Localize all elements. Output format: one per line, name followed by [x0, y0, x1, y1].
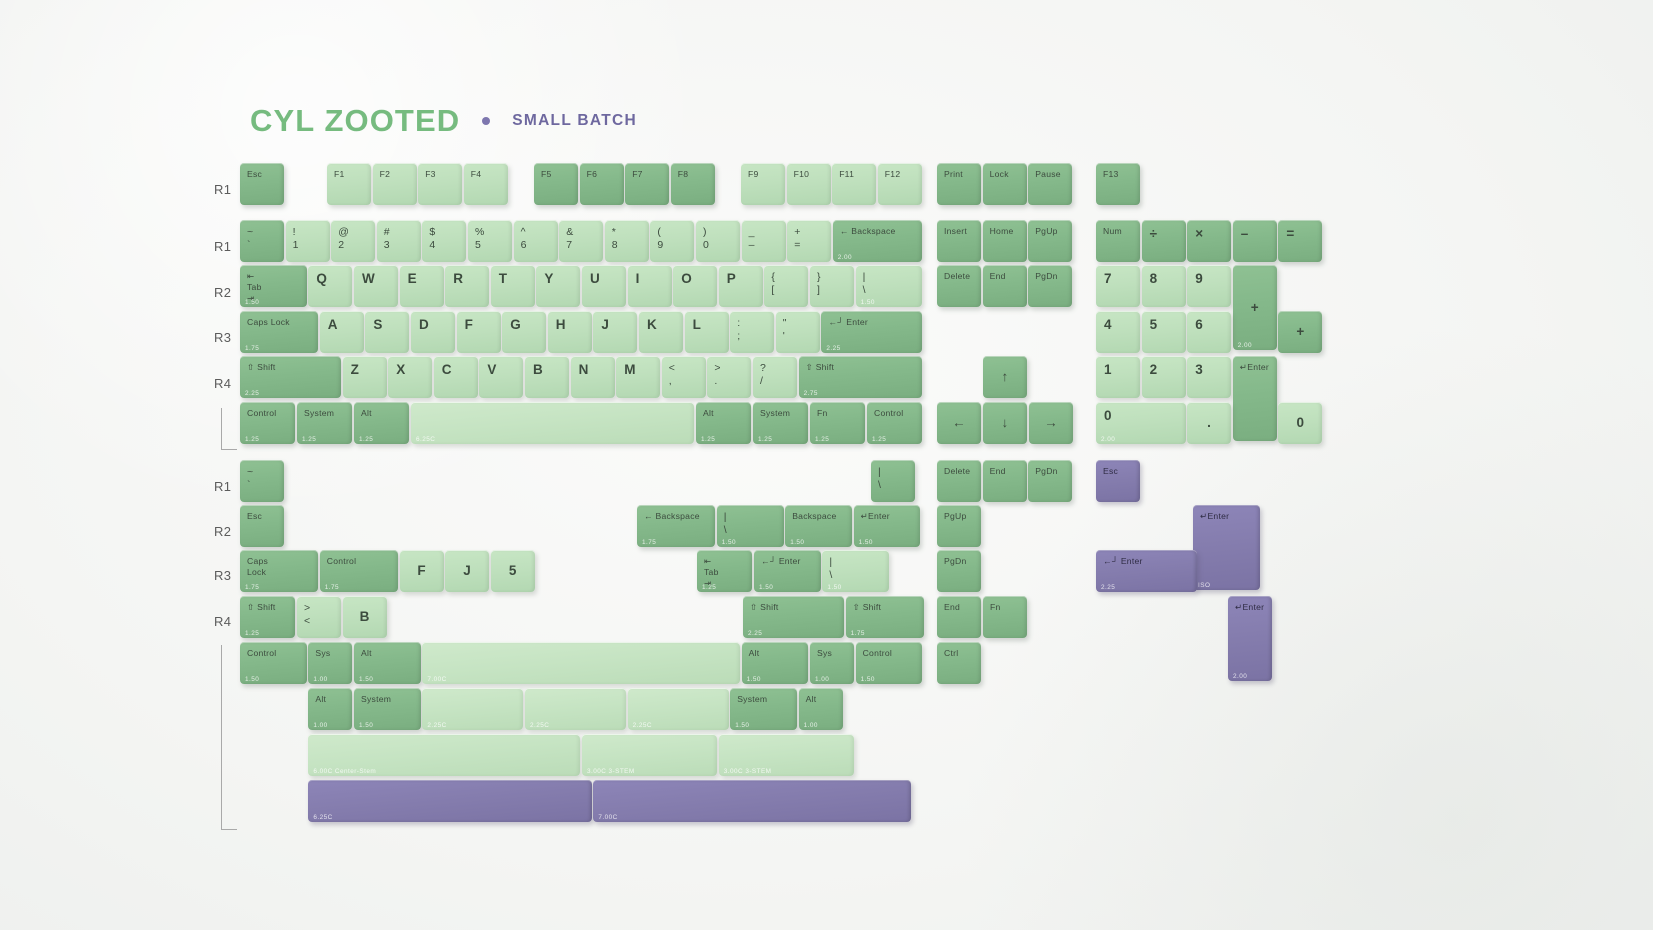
keycap-surface — [707, 356, 751, 398]
keycap-system: System1.25 — [753, 402, 808, 444]
keycap-3: 3 — [1187, 356, 1231, 398]
keycap-blank: . — [1187, 402, 1231, 444]
keycap-blank: – — [1233, 220, 1277, 262]
keycap-f8: F8 — [671, 163, 715, 205]
keycap-surface — [1228, 596, 1272, 681]
keycap-blank: 2.25C — [525, 688, 626, 730]
keycap-q: Q — [308, 265, 352, 307]
keycap-surface — [1278, 311, 1322, 353]
keycap-caps-lock: Caps Lock1.75 — [240, 311, 318, 353]
keycap-esc: Esc — [1096, 460, 1140, 502]
keycap-alt: Alt1.00 — [799, 688, 843, 730]
keycap-esc: Esc — [240, 163, 284, 205]
keycap-u: U — [582, 265, 626, 307]
keycap-surface — [240, 642, 307, 684]
keycap-8: 8 — [1142, 265, 1186, 307]
keycap-blank: ~ ` — [240, 460, 284, 502]
keycap-surface — [308, 265, 352, 307]
keycap-surface — [400, 550, 444, 592]
keycap-surface — [856, 642, 923, 684]
row-label-b-r2: R2 — [214, 524, 231, 539]
keycap-surface — [983, 220, 1027, 262]
keycap-blank: > . — [707, 356, 751, 398]
keycap-surface — [491, 550, 535, 592]
keycap-surface — [1187, 402, 1231, 444]
keycap-blank: ← — [937, 402, 981, 444]
keycap-surface — [717, 505, 784, 547]
keycap-enter: ←┘ Enter2.25 — [1096, 550, 1197, 592]
keycap-surface — [810, 642, 854, 684]
keycap-surface — [1028, 265, 1072, 307]
keycap-backspace: Backspace1.50 — [785, 505, 852, 547]
keycap-surface — [297, 596, 341, 638]
keycap-caps-lock: CapsLock1.75 — [240, 550, 318, 592]
keycap-surface — [240, 505, 284, 547]
keycap-surface — [1278, 402, 1322, 444]
keycap-surface — [422, 688, 523, 730]
keycap-surface — [240, 402, 295, 444]
keycap-alt: Alt1.00 — [308, 688, 352, 730]
keycap-surface — [297, 402, 352, 444]
keycap-blank: } ] — [810, 265, 854, 307]
keycap-blank: _ – — [742, 220, 786, 262]
keycap-control: Control1.25 — [240, 402, 295, 444]
keycap-surface — [582, 265, 626, 307]
keycap-blank: " ' — [776, 311, 820, 353]
keycap-pgdn: PgDn — [937, 550, 981, 592]
keycap-s: S — [365, 311, 409, 353]
keycap-surface — [730, 688, 797, 730]
keycap-surface — [867, 402, 922, 444]
keycap-surface — [354, 402, 409, 444]
keycap-surface — [548, 311, 592, 353]
keycap-f2: F2 — [373, 163, 417, 205]
keycap-r: R — [445, 265, 489, 307]
keycap-surface — [754, 550, 821, 592]
keycap-surface — [743, 596, 844, 638]
keycap-enter: ←┘ Enter1.50 — [754, 550, 821, 592]
keycap-surface — [343, 596, 387, 638]
keycap-surface — [696, 402, 751, 444]
keycap-surface — [810, 402, 865, 444]
keycap-e: E — [400, 265, 444, 307]
keycap-surface — [937, 550, 981, 592]
keycap-surface — [468, 220, 512, 262]
keycap-surface — [1096, 402, 1186, 444]
keycap-surface — [1028, 460, 1072, 502]
keycap-surface — [753, 356, 797, 398]
keycap-surface — [388, 356, 432, 398]
keycap-pgdn: PgDn — [1028, 460, 1072, 502]
keycap-alt: Alt1.50 — [742, 642, 809, 684]
keycap-t: T — [491, 265, 535, 307]
keycap-2: 2 — [1142, 356, 1186, 398]
keycap-surface — [787, 163, 831, 205]
keycap-0: 02.00 — [1096, 402, 1186, 444]
keycap-fn: Fn — [983, 596, 1027, 638]
keycap-surface — [445, 550, 489, 592]
keycap-surface — [593, 780, 911, 822]
keycap-surface — [411, 311, 455, 353]
keycap-blank: 6.00C Center-Stem — [308, 734, 580, 776]
keycap-blank: = — [1278, 220, 1322, 262]
keycap-surface — [308, 780, 591, 822]
keycap-b: B — [525, 356, 569, 398]
keycap-esc: Esc — [240, 505, 284, 547]
keycap-surface — [343, 356, 387, 398]
keycap-surface — [937, 505, 981, 547]
keycap-surface — [937, 460, 981, 502]
keycap-surface — [240, 460, 284, 502]
keycap-delete: Delete — [937, 460, 981, 502]
keycap-fn: Fn1.25 — [810, 402, 865, 444]
keycap-blank: { [ — [764, 265, 808, 307]
keycap-surface — [580, 163, 624, 205]
keycap-surface — [240, 220, 284, 262]
keycap-shift: ⇧ Shift2.25 — [240, 356, 341, 398]
keycap-end: End — [937, 596, 981, 638]
keycap-surface — [637, 505, 715, 547]
bullet-dot-icon — [482, 117, 490, 125]
keycap-surface — [785, 505, 852, 547]
keycap-surface — [937, 642, 981, 684]
keycap-surface — [240, 550, 318, 592]
keycap-surface — [799, 356, 923, 398]
keycap-surface — [1278, 220, 1322, 262]
keycap-f: F — [400, 550, 444, 592]
keycap-system: System1.25 — [297, 402, 352, 444]
keycap-backspace: ← Backspace2.00 — [833, 220, 923, 262]
keycap-j: J — [593, 311, 637, 353]
keycap-surface — [983, 460, 1027, 502]
keycap-surface — [445, 265, 489, 307]
keycap-surface — [422, 220, 466, 262]
keycap-blank: ~ ` — [240, 220, 284, 262]
keycap-surface — [240, 311, 318, 353]
keycap-surface — [365, 311, 409, 353]
keycap-g: G — [502, 311, 546, 353]
keycap-4: 4 — [1096, 311, 1140, 353]
keycap-d: D — [411, 311, 455, 353]
keycap-k: K — [639, 311, 683, 353]
keycap-j: J — [445, 550, 489, 592]
keycap-surface — [479, 356, 523, 398]
keycap-f4: F4 — [464, 163, 508, 205]
keycap-tab: ⇤Tab⇥1.50 — [240, 265, 307, 307]
keycap-surface — [776, 311, 820, 353]
keycap-surface — [1142, 265, 1186, 307]
keycap-surface — [730, 311, 774, 353]
keycap-surface — [937, 163, 981, 205]
keycap-f7: F7 — [625, 163, 669, 205]
keycap-surface — [1142, 220, 1186, 262]
keycap-blank: × — [1187, 220, 1231, 262]
keycap-surface — [514, 220, 558, 262]
keycap-blank: 3.00C 3-STEM — [582, 734, 717, 776]
keycap-f5: F5 — [534, 163, 578, 205]
keycap-surface — [320, 550, 398, 592]
keycap-surface — [628, 688, 729, 730]
keycap-f13: F13 — [1096, 163, 1140, 205]
keycap-surface — [571, 356, 615, 398]
keycap-surface — [1187, 356, 1231, 398]
keycap-h: H — [548, 311, 592, 353]
keycap-surface — [605, 220, 649, 262]
keycap-i: I — [628, 265, 672, 307]
keycap-surface — [434, 356, 478, 398]
keycap-surface — [308, 642, 352, 684]
keycap-surface — [983, 356, 1027, 398]
keycap-a: A — [320, 311, 364, 353]
row-label-r1-num: R1 — [214, 239, 231, 254]
keycap-surface — [418, 163, 462, 205]
keycap-blank: | \1.50 — [717, 505, 784, 547]
keycap-f1: F1 — [327, 163, 371, 205]
keycap-home: Home — [983, 220, 1027, 262]
keycap-o: O — [673, 265, 717, 307]
keycap-surface — [878, 163, 922, 205]
keycap-surface — [240, 596, 295, 638]
keycap-surface — [457, 311, 501, 353]
keycap-surface — [240, 356, 341, 398]
page-header: CYL ZOOTED SMALL BATCH — [250, 103, 637, 139]
keycap-pgup: PgUp — [937, 505, 981, 547]
keycap-f11: F11 — [832, 163, 876, 205]
keycap-enter: ←┘ Enter2.25 — [821, 311, 922, 353]
keycap-surface — [685, 311, 729, 353]
keycap-l: L — [685, 311, 729, 353]
keycap-surface — [354, 265, 398, 307]
keycap-enter: ↵Enter1.50 — [854, 505, 921, 547]
keycap-surface — [832, 163, 876, 205]
keycap-f6: F6 — [580, 163, 624, 205]
keycap-surface — [373, 163, 417, 205]
row-label-b-r3: R3 — [214, 568, 231, 583]
keycap-surface — [983, 163, 1027, 205]
keycap-surface — [1096, 163, 1140, 205]
keycap-surface — [559, 220, 603, 262]
keycap-n: N — [571, 356, 615, 398]
keycap-backspace: ← Backspace1.75 — [637, 505, 715, 547]
keycap-surface — [308, 734, 580, 776]
keycap-blank: ÷ — [1142, 220, 1186, 262]
keycap-blank: → — [1029, 402, 1073, 444]
keycap-surface — [937, 402, 981, 444]
keycap-blank: ↓ — [983, 402, 1027, 444]
keycap-f9: F9 — [741, 163, 785, 205]
keycap-5: 5 — [491, 550, 535, 592]
keycap-enter: ↵Enter2.00 — [1228, 596, 1272, 681]
keycap-surface — [1142, 311, 1186, 353]
keycap-surface — [491, 265, 535, 307]
keycap-c: C — [434, 356, 478, 398]
keycap-0: 0 — [1278, 402, 1322, 444]
keycap-alt: Alt1.25 — [696, 402, 751, 444]
keycap-surface — [719, 265, 763, 307]
keycap-surface — [833, 220, 923, 262]
keycap-f3: F3 — [418, 163, 462, 205]
keycap-surface — [639, 311, 683, 353]
keycap-surface — [1096, 550, 1197, 592]
keycap-b: B — [343, 596, 387, 638]
keycap-surface — [983, 596, 1027, 638]
keycap-blank: 2.25C — [628, 688, 729, 730]
keycap-surface — [822, 550, 889, 592]
keycap-surface — [354, 688, 421, 730]
keycap-p: P — [719, 265, 763, 307]
keycap-surface — [625, 163, 669, 205]
keycap-print: Print — [937, 163, 981, 205]
keycap-v: V — [479, 356, 523, 398]
keycap-blank: + — [1278, 311, 1322, 353]
bottom-row-bracket-bottom — [221, 645, 237, 830]
keycap-surface — [937, 596, 981, 638]
keycap-tab: ⇤Tab⇥1.25 — [697, 550, 752, 592]
keycap-blank: 6.25C — [411, 402, 694, 444]
keycap-ctrl: Ctrl — [937, 642, 981, 684]
keycap-surface — [240, 163, 284, 205]
keycap-surface — [327, 163, 371, 205]
keycap-enter: ↵Enter — [1233, 356, 1277, 441]
keycap-surface — [662, 356, 706, 398]
keycap-blank: + = — [787, 220, 831, 262]
keycap-surface — [846, 596, 924, 638]
keycap-surface — [536, 265, 580, 307]
keycap-control: Control1.75 — [320, 550, 398, 592]
keycap-surface — [742, 642, 809, 684]
keycap-surface — [671, 163, 715, 205]
keycap-surface — [1187, 311, 1231, 353]
keycap-f12: F12 — [878, 163, 922, 205]
keycap-alt: Alt1.50 — [354, 642, 421, 684]
keycap-blank: $ 4 — [422, 220, 466, 262]
keycap-6: 6 — [1187, 311, 1231, 353]
keycap-blank: 2.25C — [422, 688, 523, 730]
keycap-num: Num — [1096, 220, 1140, 262]
keycap-end: End — [983, 265, 1027, 307]
keycap-system: System1.50 — [354, 688, 421, 730]
keycap-surface — [673, 265, 717, 307]
keycap-surface — [422, 642, 740, 684]
keycap-surface — [937, 220, 981, 262]
keycap-f: F — [457, 311, 501, 353]
keycap-9: 9 — [1187, 265, 1231, 307]
keycap-surface — [240, 265, 307, 307]
keycap-surface — [464, 163, 508, 205]
keycap-control: Control1.25 — [867, 402, 922, 444]
keycap-shift: ⇧ Shift1.25 — [240, 596, 295, 638]
keycap-pgup: PgUp — [1028, 220, 1072, 262]
keycap-blank: ( 9 — [650, 220, 694, 262]
keycap-surface — [320, 311, 364, 353]
keycap-surface — [593, 311, 637, 353]
keycap-blank: 3.00C 3-STEM — [719, 734, 854, 776]
keycap-blank: ^ 6 — [514, 220, 558, 262]
keycap-blank: # 3 — [377, 220, 421, 262]
keycap-shift: ⇧ Shift1.75 — [846, 596, 924, 638]
keycap-surface — [742, 220, 786, 262]
keycap-surface — [286, 220, 330, 262]
keycap-surface — [1028, 163, 1072, 205]
keycap-blank: < , — [662, 356, 706, 398]
row-label-r2: R2 — [214, 285, 231, 300]
keycap-surface — [1096, 220, 1140, 262]
keycap-surface — [354, 642, 421, 684]
keycap-x: X — [388, 356, 432, 398]
keycap-surface — [1096, 460, 1140, 502]
keycap-blank: | \1.50 — [856, 265, 923, 307]
keycap-y: Y — [536, 265, 580, 307]
keycap-surface — [534, 163, 578, 205]
keycap-surface — [821, 311, 922, 353]
keycap-surface — [331, 220, 375, 262]
keycap-delete: Delete — [937, 265, 981, 307]
keycap-surface — [377, 220, 421, 262]
keycap-blank: | \1.50 — [822, 550, 889, 592]
keycap-surface — [400, 265, 444, 307]
keycap-surface — [1187, 265, 1231, 307]
keycap-surface — [582, 734, 717, 776]
keycap-system: System1.50 — [730, 688, 797, 730]
keycap-surface — [616, 356, 660, 398]
keycap-blank: ) 0 — [696, 220, 740, 262]
keycap-pgdn: PgDn — [1028, 265, 1072, 307]
keycap-surface — [502, 311, 546, 353]
keycap-surface — [696, 220, 740, 262]
row-label-b-r1: R1 — [214, 479, 231, 494]
keycap-control: Control1.50 — [856, 642, 923, 684]
keycap-5: 5 — [1142, 311, 1186, 353]
keycap-surface — [753, 402, 808, 444]
bottom-row-bracket-top — [221, 408, 237, 450]
keycap-surface — [787, 220, 831, 262]
keycap-lock: Lock — [983, 163, 1027, 205]
keycap-surface — [697, 550, 752, 592]
keycap-surface — [1142, 356, 1186, 398]
keycap-surface — [871, 460, 915, 502]
keycap-surface — [810, 265, 854, 307]
keycap-shift: ⇧ Shift2.25 — [743, 596, 844, 638]
keycap-surface — [1233, 220, 1277, 262]
keycap-surface — [764, 265, 808, 307]
keycap-surface — [1193, 505, 1260, 590]
keycap-surface — [1096, 265, 1140, 307]
keycap-m: M — [616, 356, 660, 398]
keycap-surface — [854, 505, 921, 547]
keycap-enter: ↵EnterISO — [1193, 505, 1260, 590]
keycap-blank: +2.00 — [1233, 265, 1277, 350]
keycap-surface — [628, 265, 672, 307]
keycap-pause: Pause — [1028, 163, 1072, 205]
row-label-r1-fn: R1 — [214, 182, 231, 197]
keycap-blank: : ; — [730, 311, 774, 353]
keycap-sys: Sys1.00 — [308, 642, 352, 684]
keycap-surface — [308, 688, 352, 730]
keycap-z: Z — [343, 356, 387, 398]
keycap-alt: Alt1.25 — [354, 402, 409, 444]
keycap-surface — [937, 265, 981, 307]
row-label-b-r4: R4 — [214, 614, 231, 629]
keycap-sys: Sys1.00 — [810, 642, 854, 684]
keycap-surface — [983, 402, 1027, 444]
keycap-surface — [719, 734, 854, 776]
keycap-end: End — [983, 460, 1027, 502]
keycap-control: Control1.50 — [240, 642, 307, 684]
page-title: CYL ZOOTED — [250, 103, 460, 139]
keycap-surface — [525, 688, 626, 730]
keycap-surface — [1096, 356, 1140, 398]
keycap-blank: > < — [297, 596, 341, 638]
